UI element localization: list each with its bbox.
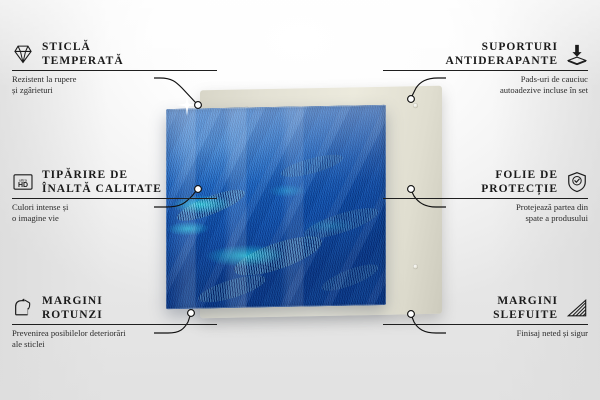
feature-rule (12, 324, 217, 325)
feature-subtitle-line1: Culori intense și (12, 202, 217, 213)
feature-folie-de-protectie[interactable]: FOLIE DE PROTECȚIE Protejează partea din… (383, 168, 588, 224)
ultra-hd-icon: ultra HD (12, 171, 34, 193)
feature-subtitle-line1: Protejează partea din (383, 202, 588, 213)
feature-rule (12, 198, 217, 199)
pad-press-icon (566, 43, 588, 65)
feature-header: STICLĂ TEMPERATĂ (12, 40, 217, 68)
feature-tiparire-de-inalta-calitate[interactable]: ultra HD TIPĂRIRE DE ÎNALTĂ CALITATE Cul… (12, 168, 217, 224)
feature-subtitle-line1: Prevenirea posibilelor deteriorări (12, 328, 217, 339)
svg-text:HD: HD (18, 182, 28, 189)
feature-subtitle: Rezistent la rupere și zgârieturi (12, 74, 217, 96)
feature-rule (383, 324, 588, 325)
feature-sticla-temperata[interactable]: STICLĂ TEMPERATĂ Rezistent la rupere și … (12, 40, 217, 96)
feature-title-line2: ROTUNZI (42, 308, 103, 322)
feature-title-line2: SLEFUITE (493, 308, 558, 322)
feature-title: FOLIE DE PROTECȚIE (481, 168, 558, 196)
feature-title-line2: TEMPERATĂ (42, 54, 124, 68)
diamond-icon (12, 43, 34, 65)
feature-title: MARGINI ROTUNZI (42, 294, 103, 322)
feature-subtitle: Culori intense și o imagine vie (12, 202, 217, 224)
feature-title: SUPORTURI ANTIDERAPANTE (446, 40, 558, 68)
feature-title-line2: PROTECȚIE (481, 182, 558, 196)
feature-title-line1: MARGINI (42, 294, 103, 308)
feature-title: TIPĂRIRE DE ÎNALTĂ CALITATE (42, 168, 162, 196)
feature-title-line1: SUPORTURI (446, 40, 558, 54)
hatched-triangle-icon (566, 297, 588, 319)
feature-title-line1: TIPĂRIRE DE (42, 168, 162, 182)
feature-rule (383, 198, 588, 199)
infographic-canvas: STICLĂ TEMPERATĂ Rezistent la rupere și … (0, 0, 600, 400)
feature-title-line2: ANTIDERAPANTE (446, 54, 558, 68)
feature-header: MARGINI ROTUNZI (12, 294, 217, 322)
feature-rule (12, 70, 217, 71)
feature-margini-slefuite[interactable]: MARGINI SLEFUITE Finisaj neted și sigur (383, 294, 588, 339)
feature-title-line2: ÎNALTĂ CALITATE (42, 182, 162, 196)
feature-title-line1: STICLĂ (42, 40, 124, 54)
rubber-pad-icon (413, 264, 418, 269)
feature-header: FOLIE DE PROTECȚIE (383, 168, 588, 196)
feature-subtitle-line1: Rezistent la rupere (12, 74, 217, 85)
feature-subtitle-line1: Finisaj neted și sigur (383, 328, 588, 339)
rounded-corner-icon (12, 297, 34, 319)
feature-subtitle: Pads-uri de cauciuc autoadezive incluse … (383, 74, 588, 96)
feature-rule (383, 70, 588, 71)
feature-title-line1: FOLIE DE (481, 168, 558, 182)
feature-subtitle-line2: și zgârieturi (12, 85, 217, 96)
feature-header: SUPORTURI ANTIDERAPANTE (383, 40, 588, 68)
rubber-pad-icon (413, 103, 418, 108)
feature-header: ultra HD TIPĂRIRE DE ÎNALTĂ CALITATE (12, 168, 217, 196)
feature-margini-rotunzi[interactable]: MARGINI ROTUNZI Prevenirea posibilelor d… (12, 294, 217, 350)
feature-subtitle: Prevenirea posibilelor deteriorări ale s… (12, 328, 217, 350)
feature-subtitle-line1: Pads-uri de cauciuc (383, 74, 588, 85)
feature-title: STICLĂ TEMPERATĂ (42, 40, 124, 68)
feature-suporturi-antiderapante[interactable]: SUPORTURI ANTIDERAPANTE Pads-uri de cauc… (383, 40, 588, 96)
feature-title-line1: MARGINI (493, 294, 558, 308)
feature-subtitle-line2: spate a produsului (383, 213, 588, 224)
shield-check-icon (566, 171, 588, 193)
feature-subtitle-line2: ale sticlei (12, 339, 217, 350)
feature-subtitle: Finisaj neted și sigur (383, 328, 588, 339)
feature-subtitle-line2: o imagine vie (12, 213, 217, 224)
feature-subtitle-line2: autoadezive incluse în set (383, 85, 588, 96)
feature-header: MARGINI SLEFUITE (383, 294, 588, 322)
feature-title: MARGINI SLEFUITE (493, 294, 558, 322)
feature-subtitle: Protejează partea din spate a produsului (383, 202, 588, 224)
